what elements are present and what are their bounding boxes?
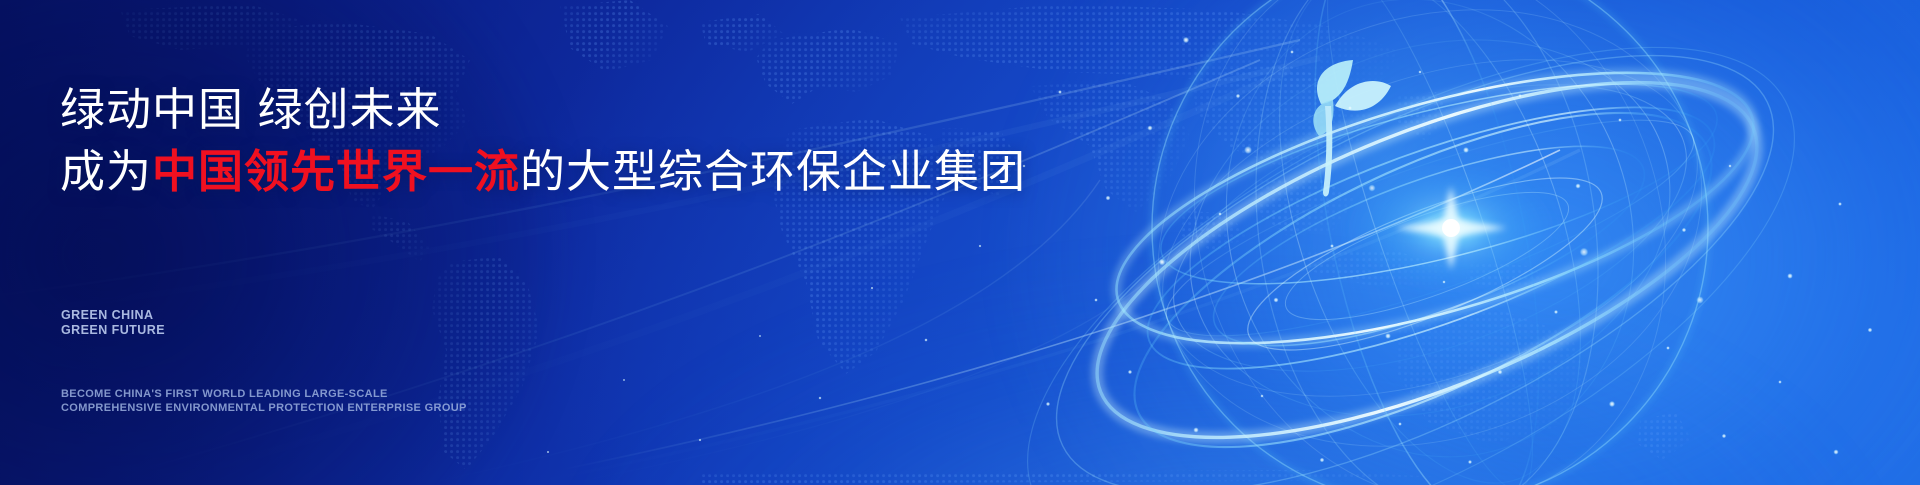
headline-line-2-highlight: 中国领先世界一流	[152, 146, 520, 197]
upper-glow-wash	[998, 0, 1920, 485]
sprout-leaf-icon	[1313, 60, 1391, 197]
tagline-english-line-1: GREEN CHINA	[61, 308, 165, 323]
tagline-english: GREEN CHINA GREEN FUTURE	[61, 308, 165, 338]
subline-english-line-1: BECOME CHINA'S FIRST WORLD LEADING LARGE…	[61, 388, 467, 402]
headline-line-1: 绿动中国 绿创未来	[60, 84, 442, 135]
headline-line-2: 成为中国领先世界一流的大型综合环保企业集团	[60, 141, 1026, 203]
tagline-english-line-2: GREEN FUTURE	[61, 323, 165, 338]
hero-banner: 绿动中国 绿创未来 成为中国领先世界一流的大型综合环保企业集团 GREEN CH…	[0, 0, 1920, 485]
copy-block: 绿动中国 绿创未来 成为中国领先世界一流的大型综合环保企业集团 GREEN CH…	[60, 0, 1060, 485]
subline-english-line-2: COMPREHENSIVE ENVIRONMENTAL PROTECTION E…	[61, 402, 467, 416]
globe-glow-point	[1341, 164, 1561, 292]
headline-line-2-prefix: 成为	[60, 146, 152, 197]
headline-line-2-suffix: 的大型综合环保企业集团	[520, 146, 1026, 197]
wireframe-globe-graphic	[1055, 0, 1815, 485]
subline-english: BECOME CHINA'S FIRST WORLD LEADING LARGE…	[61, 388, 467, 415]
orbital-ring-graphic	[954, 0, 1868, 485]
page-title: 绿动中国 绿创未来 成为中国领先世界一流的大型综合环保企业集团	[60, 79, 1026, 203]
